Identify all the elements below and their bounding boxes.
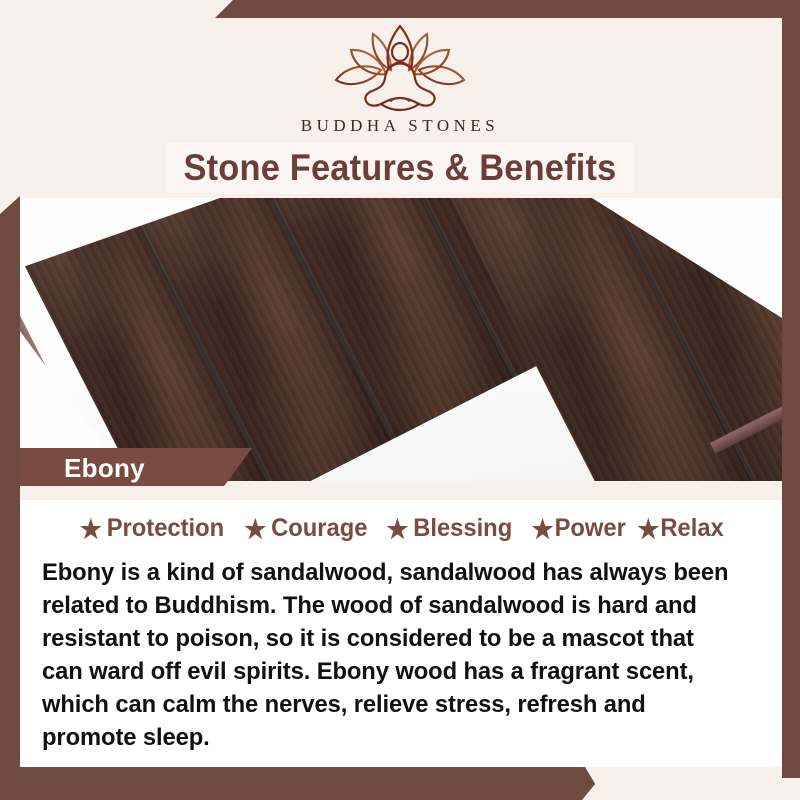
benefit-label: Blessing <box>414 514 513 543</box>
benefit-label: Courage <box>271 514 367 543</box>
star-icon: ★ <box>80 516 102 542</box>
benefit-item: ★ Blessing <box>387 514 513 543</box>
product-name-label: Ebony <box>64 453 145 484</box>
star-icon: ★ <box>387 516 409 542</box>
benefit-item: ★ Power <box>531 514 625 543</box>
description-text: Ebony is a kind of sandalwood, sandalwoo… <box>42 556 738 754</box>
frame-left-bar <box>0 196 20 800</box>
page-title: Stone Features & Benefits <box>28 147 772 189</box>
benefits-row: ★ Protection ★ Courage ★ Blessing ★ Powe… <box>20 514 782 543</box>
lotus-meditation-icon <box>325 22 475 114</box>
poster-root: BUDDHA STONES Stone Features & Benefits <box>0 0 800 800</box>
benefit-item: ★ Relax <box>638 514 724 543</box>
star-icon: ★ <box>638 516 660 542</box>
benefit-label: Relax <box>661 514 724 543</box>
benefit-item: ★ Courage <box>244 514 367 543</box>
content-top-fade <box>20 486 782 500</box>
star-icon: ★ <box>244 516 266 542</box>
header: BUDDHA STONES Stone Features & Benefits <box>0 0 800 200</box>
brand-logo: BUDDHA STONES <box>0 22 800 136</box>
benefit-label: Power <box>554 514 625 543</box>
content-panel: ★ Protection ★ Courage ★ Blessing ★ Powe… <box>20 486 782 767</box>
benefit-label: Protection <box>106 514 223 543</box>
brand-name: BUDDHA STONES <box>0 116 800 136</box>
star-icon: ★ <box>531 516 553 542</box>
product-photo <box>20 198 782 481</box>
benefit-item: ★ Protection <box>80 514 224 543</box>
